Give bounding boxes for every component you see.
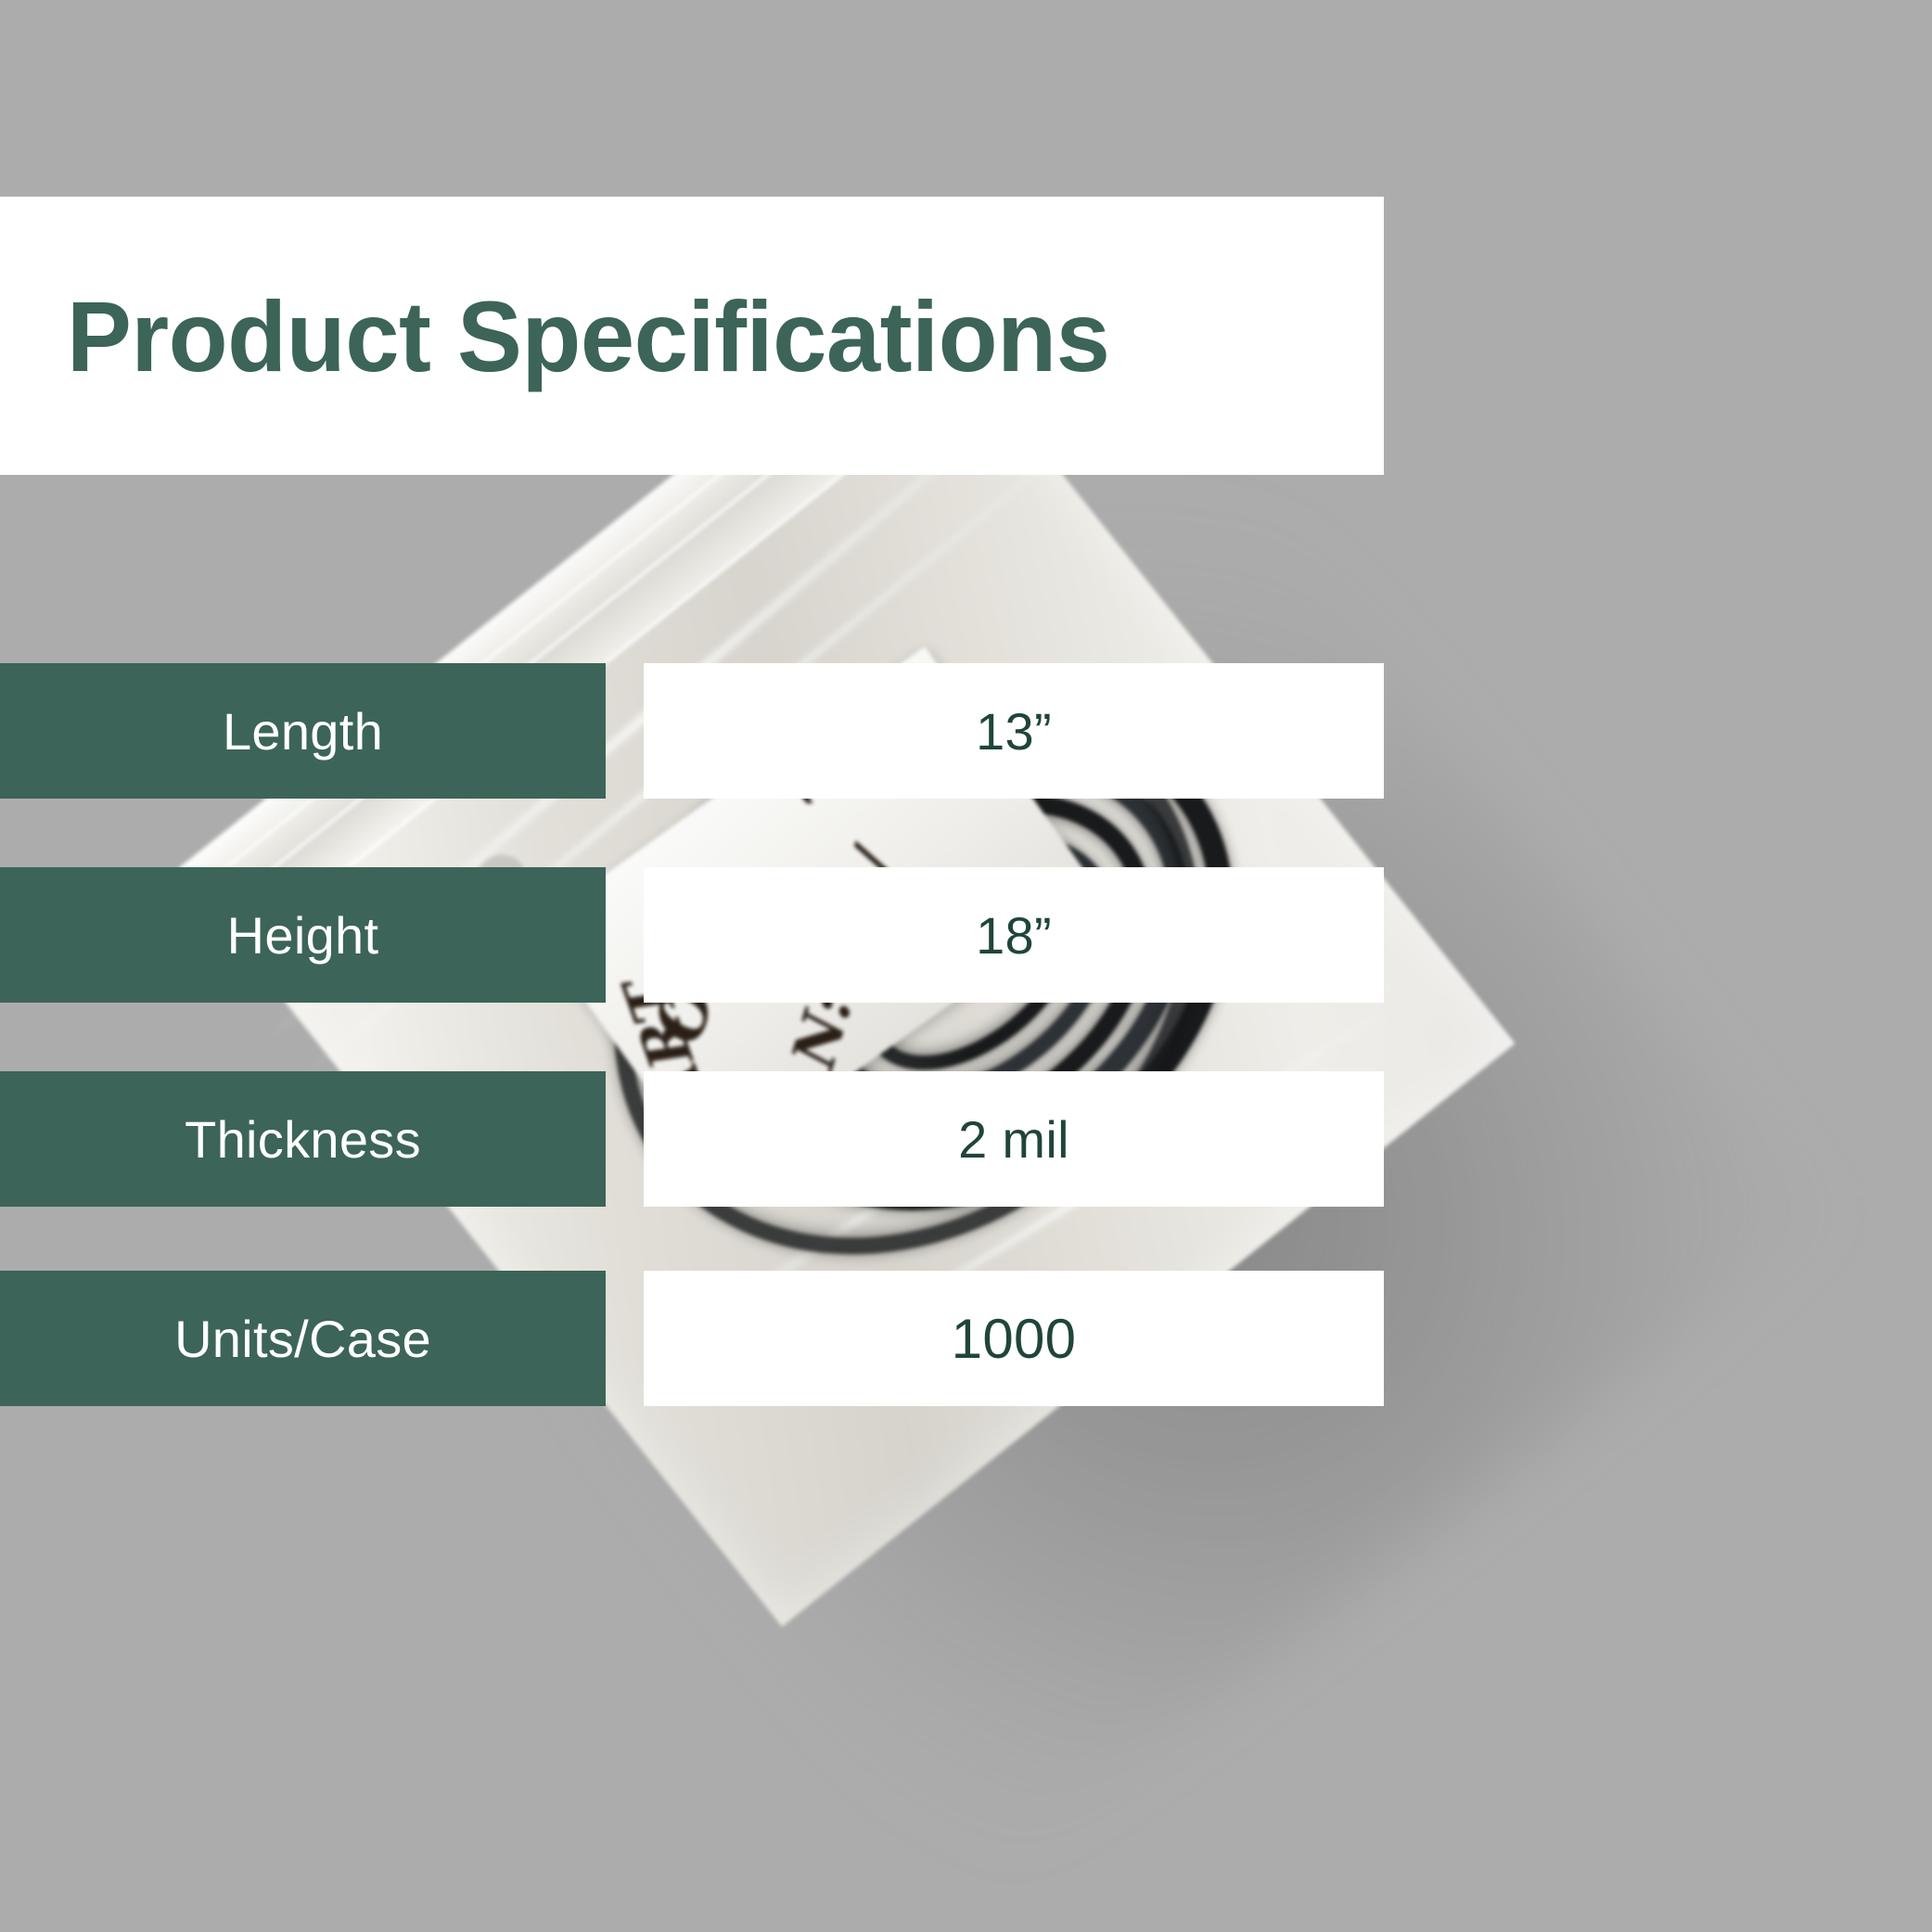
spec-gap (606, 867, 644, 1003)
spec-label-units-per-case: Units/Case (0, 1271, 606, 1406)
spec-row-length: Length 13” (0, 663, 1384, 799)
spec-value-units-per-case: 1000 (644, 1271, 1384, 1406)
page-title: Product Specifications (67, 278, 1109, 394)
spec-value-length: 13” (644, 663, 1384, 799)
spec-row-height: Height 18” (0, 867, 1384, 1003)
spec-label-height: Height (0, 867, 606, 1003)
spec-gap (606, 1071, 644, 1207)
spec-label-thickness: Thickness (0, 1071, 606, 1207)
spec-row-units-per-case: Units/Case 1000 (0, 1271, 1384, 1406)
header-card: Product Specifications (0, 197, 1384, 475)
spec-gap (606, 663, 644, 799)
spec-value-height: 18” (644, 867, 1384, 1003)
spec-row-thickness: Thickness 2 mil (0, 1071, 1384, 1207)
spec-value-thickness: 2 mil (644, 1071, 1384, 1207)
spec-label-length: Length (0, 663, 606, 799)
spec-gap (606, 1271, 644, 1406)
product-spec-graphic: ~ O/ 5/ ART N: / Product Specifications … (0, 0, 1932, 1932)
